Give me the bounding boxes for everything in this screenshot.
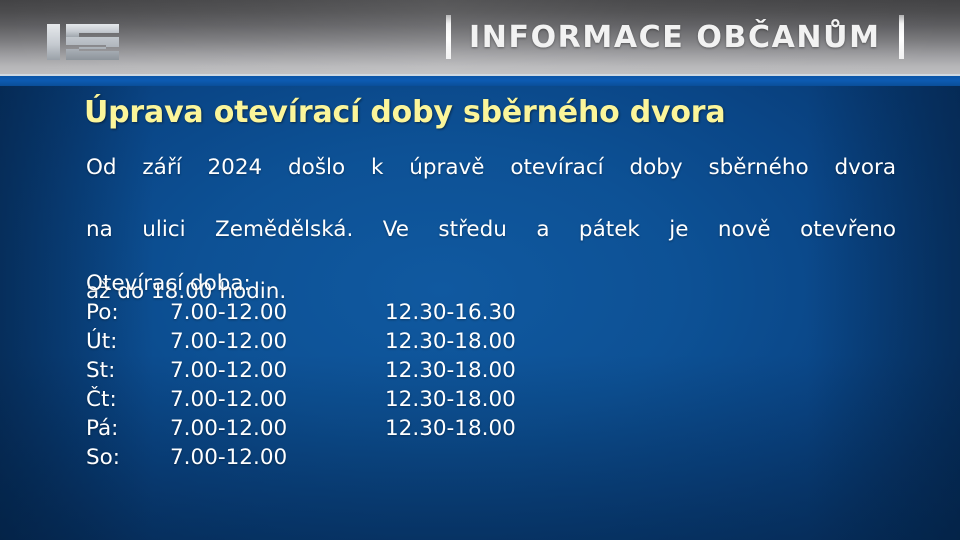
hours-morning: 7.00-12.00 [170, 327, 385, 356]
header-left-bar [446, 15, 451, 59]
slide-root: INFORMACE OBČANŮM Úprava otevírací doby … [0, 0, 960, 540]
hours-morning: 7.00-12.00 [170, 385, 385, 414]
table-row: Pá: 7.00-12.00 12.30-18.00 [86, 414, 585, 443]
is-logo [46, 22, 130, 62]
table-row: So: 7.00-12.00 [86, 443, 585, 472]
table-row: Po: 7.00-12.00 12.30-16.30 [86, 298, 585, 327]
hours-morning: 7.00-12.00 [170, 414, 385, 443]
table-row: St: 7.00-12.00 12.30-18.00 [86, 356, 585, 385]
table-row: Čt: 7.00-12.00 12.30-18.00 [86, 385, 585, 414]
hours-afternoon [385, 443, 585, 472]
hours-morning: 7.00-12.00 [170, 298, 385, 327]
intro-line: na ulici Zemědělská. Ve středu a pátek j… [86, 214, 896, 276]
header-title-group: INFORMACE OBČANŮM [446, 13, 904, 61]
hours-afternoon: 12.30-18.00 [385, 414, 585, 443]
hours-afternoon: 12.30-18.00 [385, 385, 585, 414]
hours-afternoon: 12.30-16.30 [385, 298, 585, 327]
hours-day: Čt: [86, 385, 170, 414]
page-title: Úprava otevírací doby sběrného dvora [84, 95, 914, 130]
hours-morning: 7.00-12.00 [170, 443, 385, 472]
slide-content: Úprava otevírací doby sběrného dvora Od … [0, 76, 960, 540]
page-header: INFORMACE OBČANŮM [0, 0, 960, 74]
hours-afternoon: 12.30-18.00 [385, 327, 585, 356]
header-title: INFORMACE OBČANŮM [469, 20, 881, 55]
hours-day: Pá: [86, 414, 170, 443]
opening-hours-table: Po: 7.00-12.00 12.30-16.30 Út: 7.00-12.0… [86, 298, 585, 472]
hours-day: Po: [86, 298, 170, 327]
hours-day: St: [86, 356, 170, 385]
hours-afternoon: 12.30-18.00 [385, 356, 585, 385]
header-right-bar [899, 15, 904, 59]
hours-day: So: [86, 443, 170, 472]
hours-day: Út: [86, 327, 170, 356]
hours-morning: 7.00-12.00 [170, 356, 385, 385]
hours-label: Otevírací doba: [86, 268, 251, 299]
table-row: Út: 7.00-12.00 12.30-18.00 [86, 327, 585, 356]
intro-line: Od září 2024 došlo k úpravě otevírací do… [86, 152, 896, 214]
